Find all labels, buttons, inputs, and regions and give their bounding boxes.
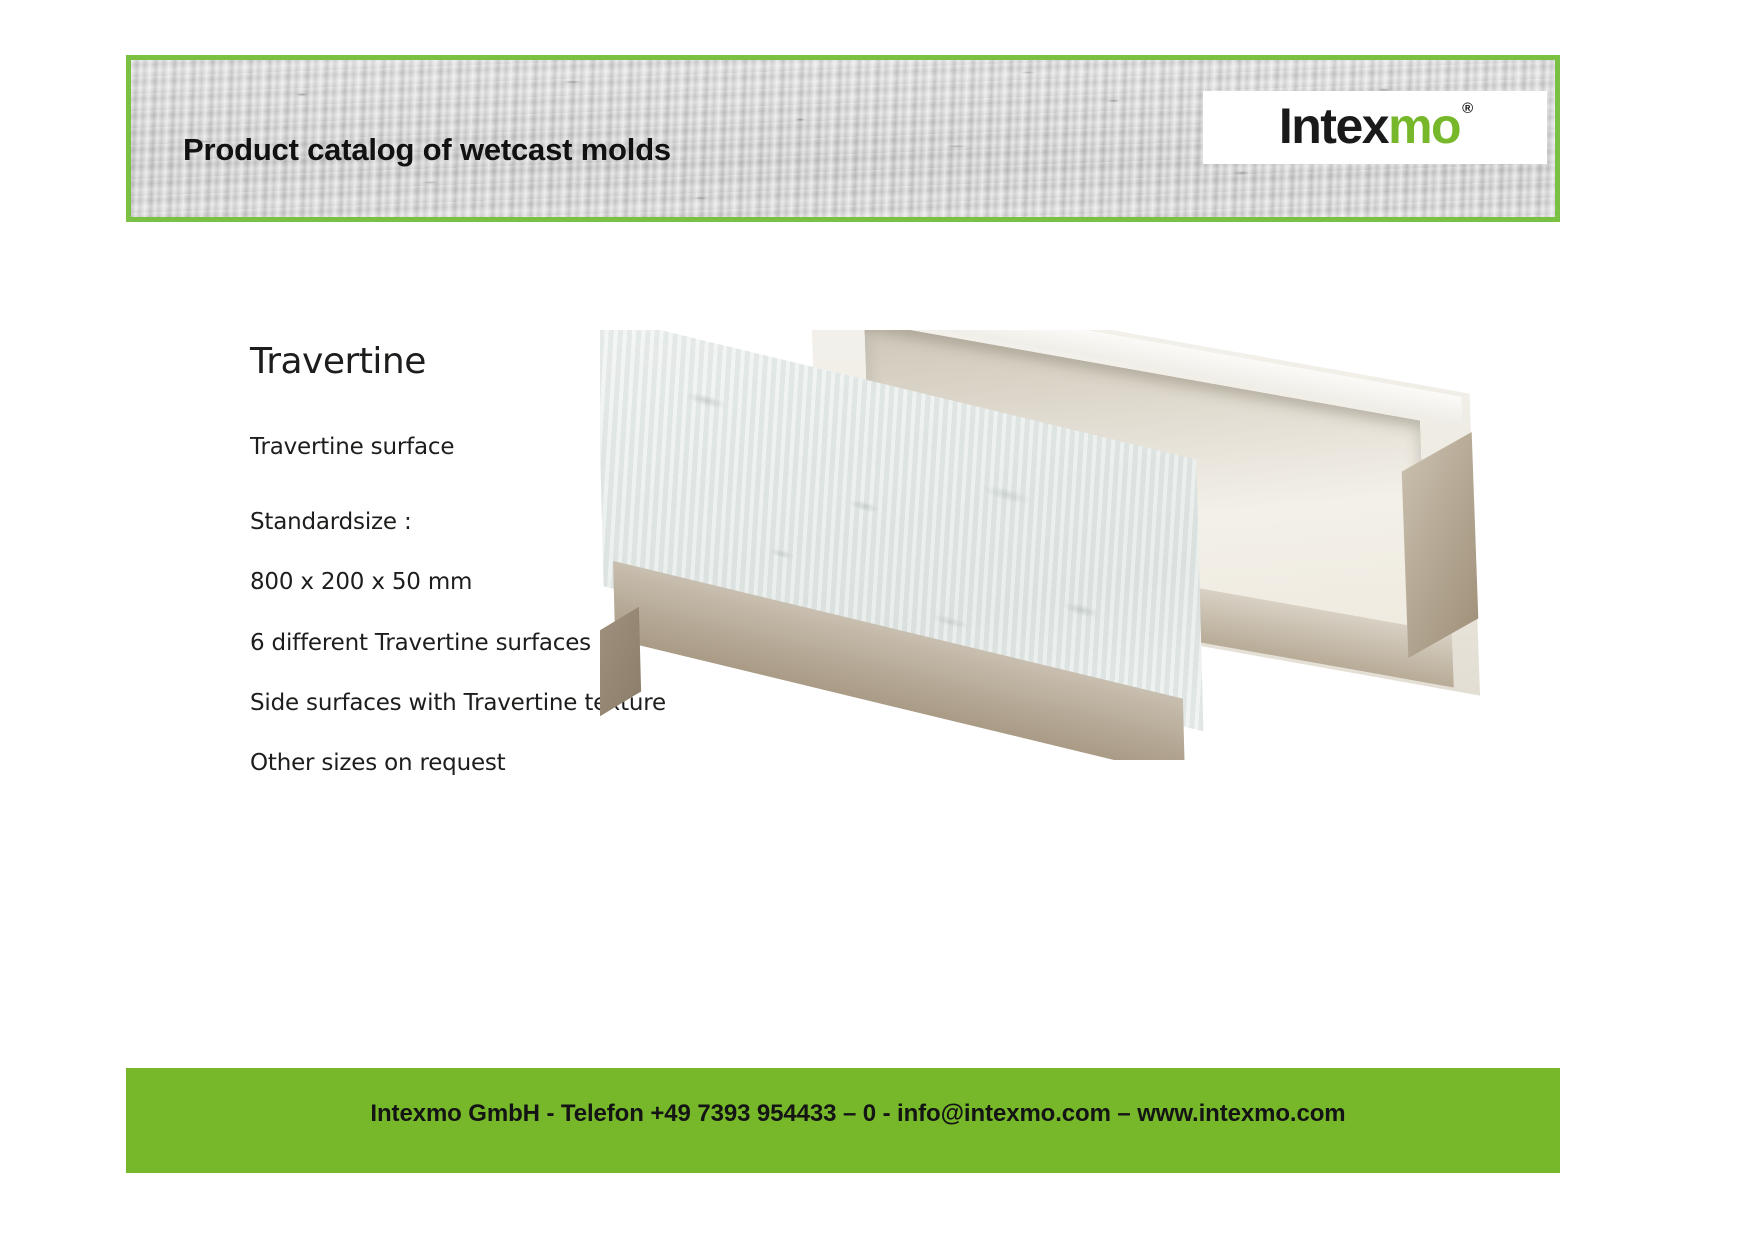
company-logo: Intexmo® (1203, 91, 1547, 164)
logo-wordmark: Intexmo® (1279, 101, 1471, 151)
page-footer: Intexmo GmbH - Telefon +49 7393 954433 –… (126, 1068, 1560, 1173)
concrete-slab-end (600, 607, 641, 719)
mold-right-side (1402, 432, 1479, 658)
spec-line-standardsize: Standardsize : (250, 509, 412, 535)
page-title: Product catalog of wetcast molds (183, 132, 671, 168)
spec-line-other-sizes: Other sizes on request (250, 750, 506, 776)
product-name-heading: Travertine (250, 341, 426, 382)
page-header: Product catalog of wetcast molds Intexmo… (126, 55, 1560, 222)
spec-line-dimensions: 800 x 200 x 50 mm (250, 569, 472, 595)
registered-trademark-icon: ® (1462, 100, 1473, 117)
logo-text-intex: Intex (1279, 98, 1388, 154)
product-photo (600, 330, 1560, 760)
logo-text-mo: mo (1388, 98, 1460, 154)
footer-contact-text: Intexmo GmbH - Telefon +49 7393 954433 –… (126, 1100, 1560, 1128)
spec-line-variants: 6 different Travertine surfaces (250, 630, 591, 656)
spec-line-surface: Travertine surface (250, 434, 454, 460)
